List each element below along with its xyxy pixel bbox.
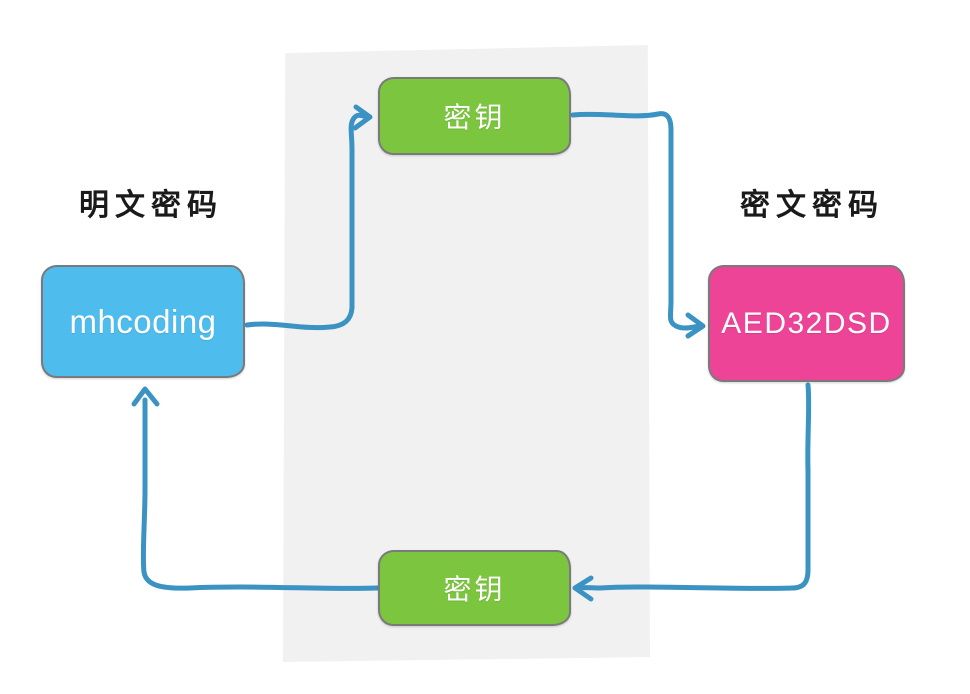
arrowhead-plaintext	[134, 389, 157, 404]
ciphertext-node[interactable]: AED32DSD	[708, 265, 905, 382]
plaintext-node-label: mhcoding	[69, 303, 216, 341]
caption-plaintext: 明文密码	[72, 180, 230, 224]
diagram-canvas: 明文密码 密文密码 mhcoding AED32DSD 密钥 密钥	[0, 0, 970, 694]
plaintext-node[interactable]: mhcoding	[41, 265, 245, 378]
key-node-top[interactable]: 密钥	[378, 77, 571, 155]
ciphertext-node-label: AED32DSD	[721, 307, 891, 341]
key-node-bottom[interactable]: 密钥	[378, 550, 571, 626]
key-node-top-label: 密钥	[443, 96, 505, 136]
caption-ciphertext: 密文密码	[733, 180, 891, 224]
arrowhead-ciphertext	[688, 315, 703, 336]
key-node-bottom-label: 密钥	[443, 568, 505, 608]
